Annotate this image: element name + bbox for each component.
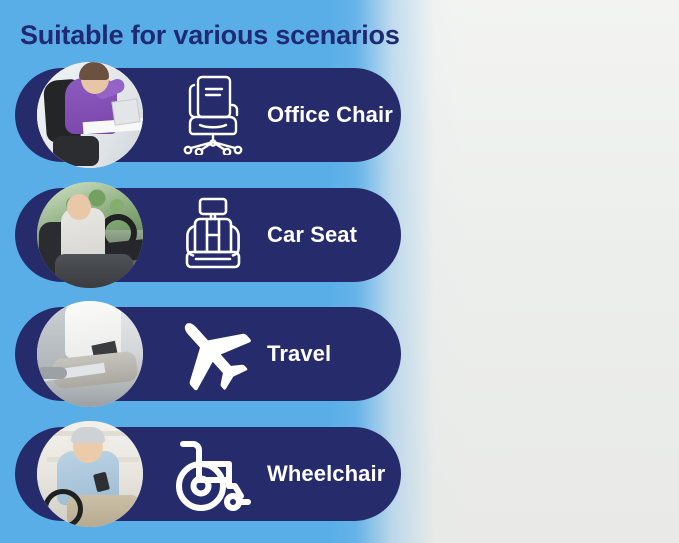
scenario-photo-wheelchair [37, 421, 143, 527]
page-title: Suitable for various scenarios [20, 20, 400, 51]
scenario-row-travel[interactable]: Travel [15, 307, 401, 401]
scenario-label-wheelchair: Wheelchair [267, 461, 385, 487]
airplane-icon [165, 312, 261, 396]
scenario-row-wheelchair[interactable]: Wheelchair [15, 427, 401, 521]
scenario-photo-travel [37, 301, 143, 407]
office-chair-icon [165, 73, 261, 157]
scenario-label-car-seat: Car Seat [267, 222, 357, 248]
scenario-label-travel: Travel [267, 341, 331, 367]
eyeglasses-left-lens [521, 53, 554, 82]
scenario-photo-office-chair [37, 62, 143, 168]
scenario-row-office-chair[interactable]: Office Chair [15, 68, 401, 162]
eyeglasses-bridge [551, 62, 557, 64]
scenario-label-office-chair: Office Chair [267, 102, 393, 128]
pendant-lamp-globe [402, 42, 444, 84]
desk-plant-pot [410, 150, 454, 184]
car-seat-icon [165, 193, 261, 277]
wheelchair-icon [165, 432, 261, 516]
scenario-row-car-seat[interactable]: Car Seat [15, 188, 401, 282]
polka-dot-mug [463, 144, 516, 203]
infographic-canvas: Suitable for various scenarios [0, 0, 679, 543]
eyeglasses-right-lens [553, 55, 586, 84]
scenario-photo-car-seat [37, 182, 143, 288]
